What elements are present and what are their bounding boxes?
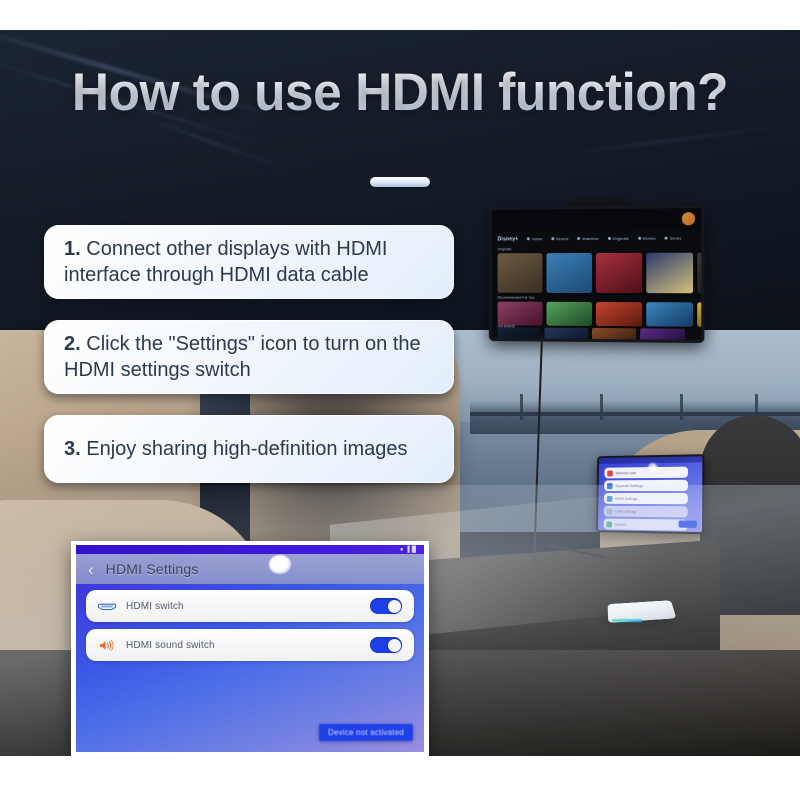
page-title: How to use HDMI function? — [12, 62, 788, 123]
bridge-pylon — [520, 394, 523, 420]
section-title: Originals — [498, 247, 512, 251]
poster-tile[interactable] — [646, 253, 693, 294]
setting-label: HDMI sound switch — [126, 640, 370, 651]
ceiling-mounted-display[interactable]: Disney+ Home Search Watchlist Originals … — [489, 205, 705, 343]
image-stage: Disney+ Home Search Watchlist Originals … — [0, 30, 800, 756]
brand-tile[interactable] — [498, 327, 541, 340]
bridge-pylon — [680, 394, 683, 420]
poster-tile[interactable] — [498, 302, 543, 326]
title-divider — [370, 177, 430, 187]
brand-tile[interactable] — [592, 328, 636, 341]
hdmi-settings-icon — [607, 495, 613, 501]
panel-header: ‹ HDMI Settings — [76, 554, 424, 584]
poster-tile[interactable] — [646, 302, 693, 327]
nav-dot-icon — [665, 237, 668, 240]
step-number: 3. — [64, 438, 81, 460]
poster-tile[interactable] — [498, 253, 543, 293]
back-chevron-icon[interactable]: ‹ — [88, 561, 94, 578]
toggle-knob — [388, 600, 401, 613]
poster-tile[interactable] — [546, 302, 592, 326]
streaming-logo: Disney+ — [498, 236, 519, 242]
tablet-list-item[interactable]: Wireless cast — [604, 467, 688, 479]
hdmi-port-icon — [98, 601, 118, 612]
nav-dot-icon — [638, 237, 641, 240]
status-bar: ● ▌█ — [76, 545, 424, 554]
nav-item[interactable]: Watchlist — [577, 236, 598, 240]
tablet-list-item[interactable]: HDMI Settings — [604, 493, 688, 504]
system-icon — [606, 521, 612, 527]
panel-title: HDMI Settings — [106, 561, 199, 577]
brand-row[interactable] — [498, 327, 685, 342]
step-card-3: 3. Enjoy sharing high-definition images — [44, 415, 454, 483]
profile-avatar[interactable] — [682, 212, 695, 225]
nav-dot-icon — [608, 237, 611, 240]
display-topbar — [492, 208, 702, 232]
bridge-pylon — [600, 394, 603, 420]
nav-dot-icon — [551, 237, 554, 240]
nav-dot-icon — [577, 237, 580, 240]
wireless-cast-icon — [607, 470, 613, 476]
tablet-list-item[interactable]: Other settings — [604, 506, 688, 518]
poster-tile[interactable] — [697, 302, 704, 327]
poster-tile[interactable] — [596, 253, 642, 293]
poster-tile[interactable] — [596, 302, 642, 326]
device-status-button[interactable]: Device not activated — [319, 724, 413, 741]
nav-item[interactable]: Originals — [608, 236, 629, 240]
step-card-1-text: 1. Connect other displays with HDMI inte… — [64, 236, 436, 289]
nav-item[interactable]: Movies — [638, 236, 656, 240]
setting-row-hdmi-switch[interactable]: HDMI switch — [86, 590, 414, 622]
poster-row-1[interactable] — [498, 253, 705, 294]
step-text: Enjoy sharing high-definition images — [86, 438, 407, 460]
speaker-volume-icon — [98, 639, 118, 652]
section-title: Recommended For You — [498, 296, 535, 300]
hdmi-settings-screen[interactable]: ● ▌█ ‹ HDMI Settings HDMI switch — [76, 545, 424, 752]
step-card-2-text: 2. Click the "Settings" icon to turn on … — [64, 331, 436, 384]
location-pin-icon: ● — [400, 547, 404, 553]
hdmi-switch-toggle[interactable] — [370, 598, 402, 614]
poster-row-2[interactable] — [498, 302, 705, 327]
step-text: Click the "Settings" icon to turn on the… — [64, 333, 421, 381]
streaming-nav-bar[interactable]: Disney+ Home Search Watchlist Originals … — [498, 232, 702, 244]
tablet-ok-button[interactable] — [679, 520, 697, 527]
hdmi-box-led-icon — [612, 619, 642, 622]
brand-tile[interactable] — [640, 328, 685, 342]
hdmi-sound-switch-toggle[interactable] — [370, 637, 402, 653]
hdmi-settings-panel: ● ▌█ ‹ HDMI Settings HDMI switch — [71, 541, 429, 756]
tablet-list-item[interactable]: Separate Settings — [604, 480, 688, 491]
setting-label: HDMI switch — [126, 601, 370, 612]
nav-item[interactable]: Home — [527, 237, 542, 241]
poster-tile[interactable] — [546, 253, 592, 293]
nav-dot-icon — [527, 237, 530, 240]
step-text: Connect other displays with HDMI interfa… — [64, 238, 387, 286]
poster-root: Disney+ Home Search Watchlist Originals … — [0, 0, 800, 800]
nav-item[interactable]: Series — [665, 236, 682, 240]
step-card-1: 1. Connect other displays with HDMI inte… — [44, 225, 454, 299]
ceiling-trim-streak — [561, 124, 790, 156]
signal-icon: ▌█ — [407, 547, 416, 553]
step-card-3-text: 3. Enjoy sharing high-definition images — [64, 436, 408, 462]
setting-row-hdmi-sound-switch[interactable]: HDMI sound switch — [86, 629, 414, 661]
separate-settings-icon — [607, 483, 613, 489]
brand-tile[interactable] — [544, 328, 588, 341]
poster-tile[interactable] — [697, 253, 704, 294]
step-card-2: 2. Click the "Settings" icon to turn on … — [44, 320, 454, 394]
tablet-list-item[interactable]: System — [603, 518, 687, 530]
rear-tablet-screen[interactable]: Wireless cast Separate Settings HDMI Set… — [596, 454, 704, 534]
other-settings-icon — [607, 508, 613, 514]
nav-item[interactable]: Search — [551, 237, 568, 241]
screen-glare-spot — [269, 555, 291, 574]
step-number: 1. — [64, 238, 81, 260]
toggle-knob — [388, 639, 401, 652]
step-number: 2. — [64, 333, 81, 355]
